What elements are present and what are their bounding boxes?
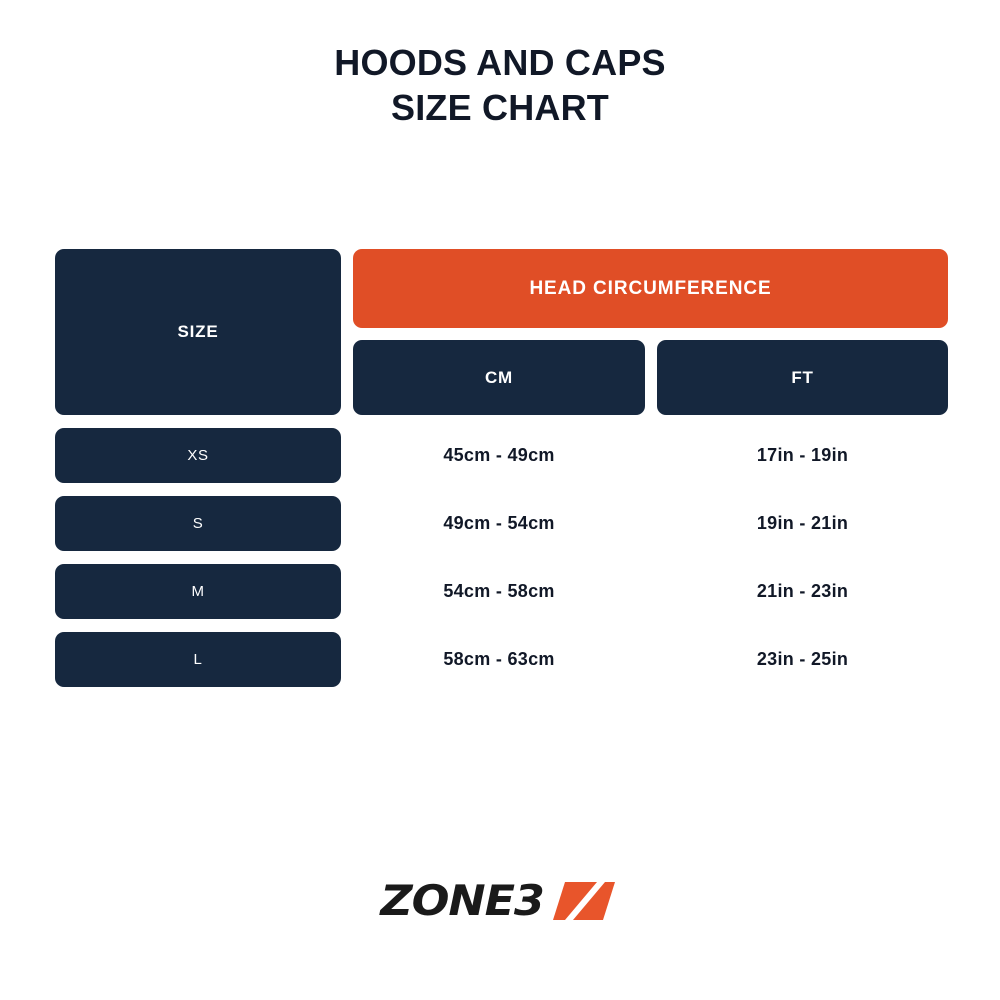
size-cell: L xyxy=(55,632,341,687)
head-circumference-header: HEAD CIRCUMFERENCE xyxy=(353,249,948,328)
size-column-header-label: SIZE xyxy=(178,322,219,342)
table-row: L 58cm - 63cm 23in - 25in xyxy=(55,632,948,687)
size-chart-table: SIZE HEAD CIRCUMFERENCE CM FT XS 45cm - … xyxy=(55,249,948,687)
ft-value-cell: 17in - 19in xyxy=(657,428,948,483)
page-title-line-1: HOODS AND CAPS xyxy=(0,40,1000,85)
cm-value-cell: 58cm - 63cm xyxy=(353,632,645,687)
cm-value-cell: 54cm - 58cm xyxy=(353,564,645,619)
size-cell-label: L xyxy=(194,651,203,668)
size-column-header: SIZE xyxy=(55,249,341,415)
size-cell-label: M xyxy=(191,583,204,600)
measurement-header-group: HEAD CIRCUMFERENCE CM FT xyxy=(353,249,948,415)
size-cell-label: S xyxy=(193,515,204,532)
table-header: SIZE HEAD CIRCUMFERENCE CM FT xyxy=(55,249,948,415)
size-cell: XS xyxy=(55,428,341,483)
table-row: XS 45cm - 49cm 17in - 19in xyxy=(55,428,948,483)
page-title-line-2: SIZE CHART xyxy=(0,85,1000,130)
brand-wordmark: ZONE3 xyxy=(380,880,543,922)
ft-value-cell: 21in - 23in xyxy=(657,564,948,619)
zone3-slash-mark-icon xyxy=(553,880,615,922)
head-circumference-header-label: HEAD CIRCUMFERENCE xyxy=(529,278,771,300)
size-cell-label: XS xyxy=(187,447,208,464)
ft-column-header-label: FT xyxy=(791,368,813,388)
page-title: HOODS AND CAPS SIZE CHART xyxy=(0,40,1000,130)
table-body: XS 45cm - 49cm 17in - 19in S 49cm - 54cm… xyxy=(55,428,948,687)
cm-column-header-label: CM xyxy=(485,368,513,388)
ft-column-header: FT xyxy=(657,340,948,415)
cm-value-cell: 49cm - 54cm xyxy=(353,496,645,551)
brand-logo: ZONE3 xyxy=(0,880,1000,922)
ft-value-cell: 23in - 25in xyxy=(657,632,948,687)
size-cell: M xyxy=(55,564,341,619)
cm-column-header: CM xyxy=(353,340,645,415)
table-row: S 49cm - 54cm 19in - 21in xyxy=(55,496,948,551)
size-cell: S xyxy=(55,496,341,551)
ft-value-cell: 19in - 21in xyxy=(657,496,948,551)
cm-value-cell: 45cm - 49cm xyxy=(353,428,645,483)
unit-header-row: CM FT xyxy=(353,340,948,415)
table-row: M 54cm - 58cm 21in - 23in xyxy=(55,564,948,619)
